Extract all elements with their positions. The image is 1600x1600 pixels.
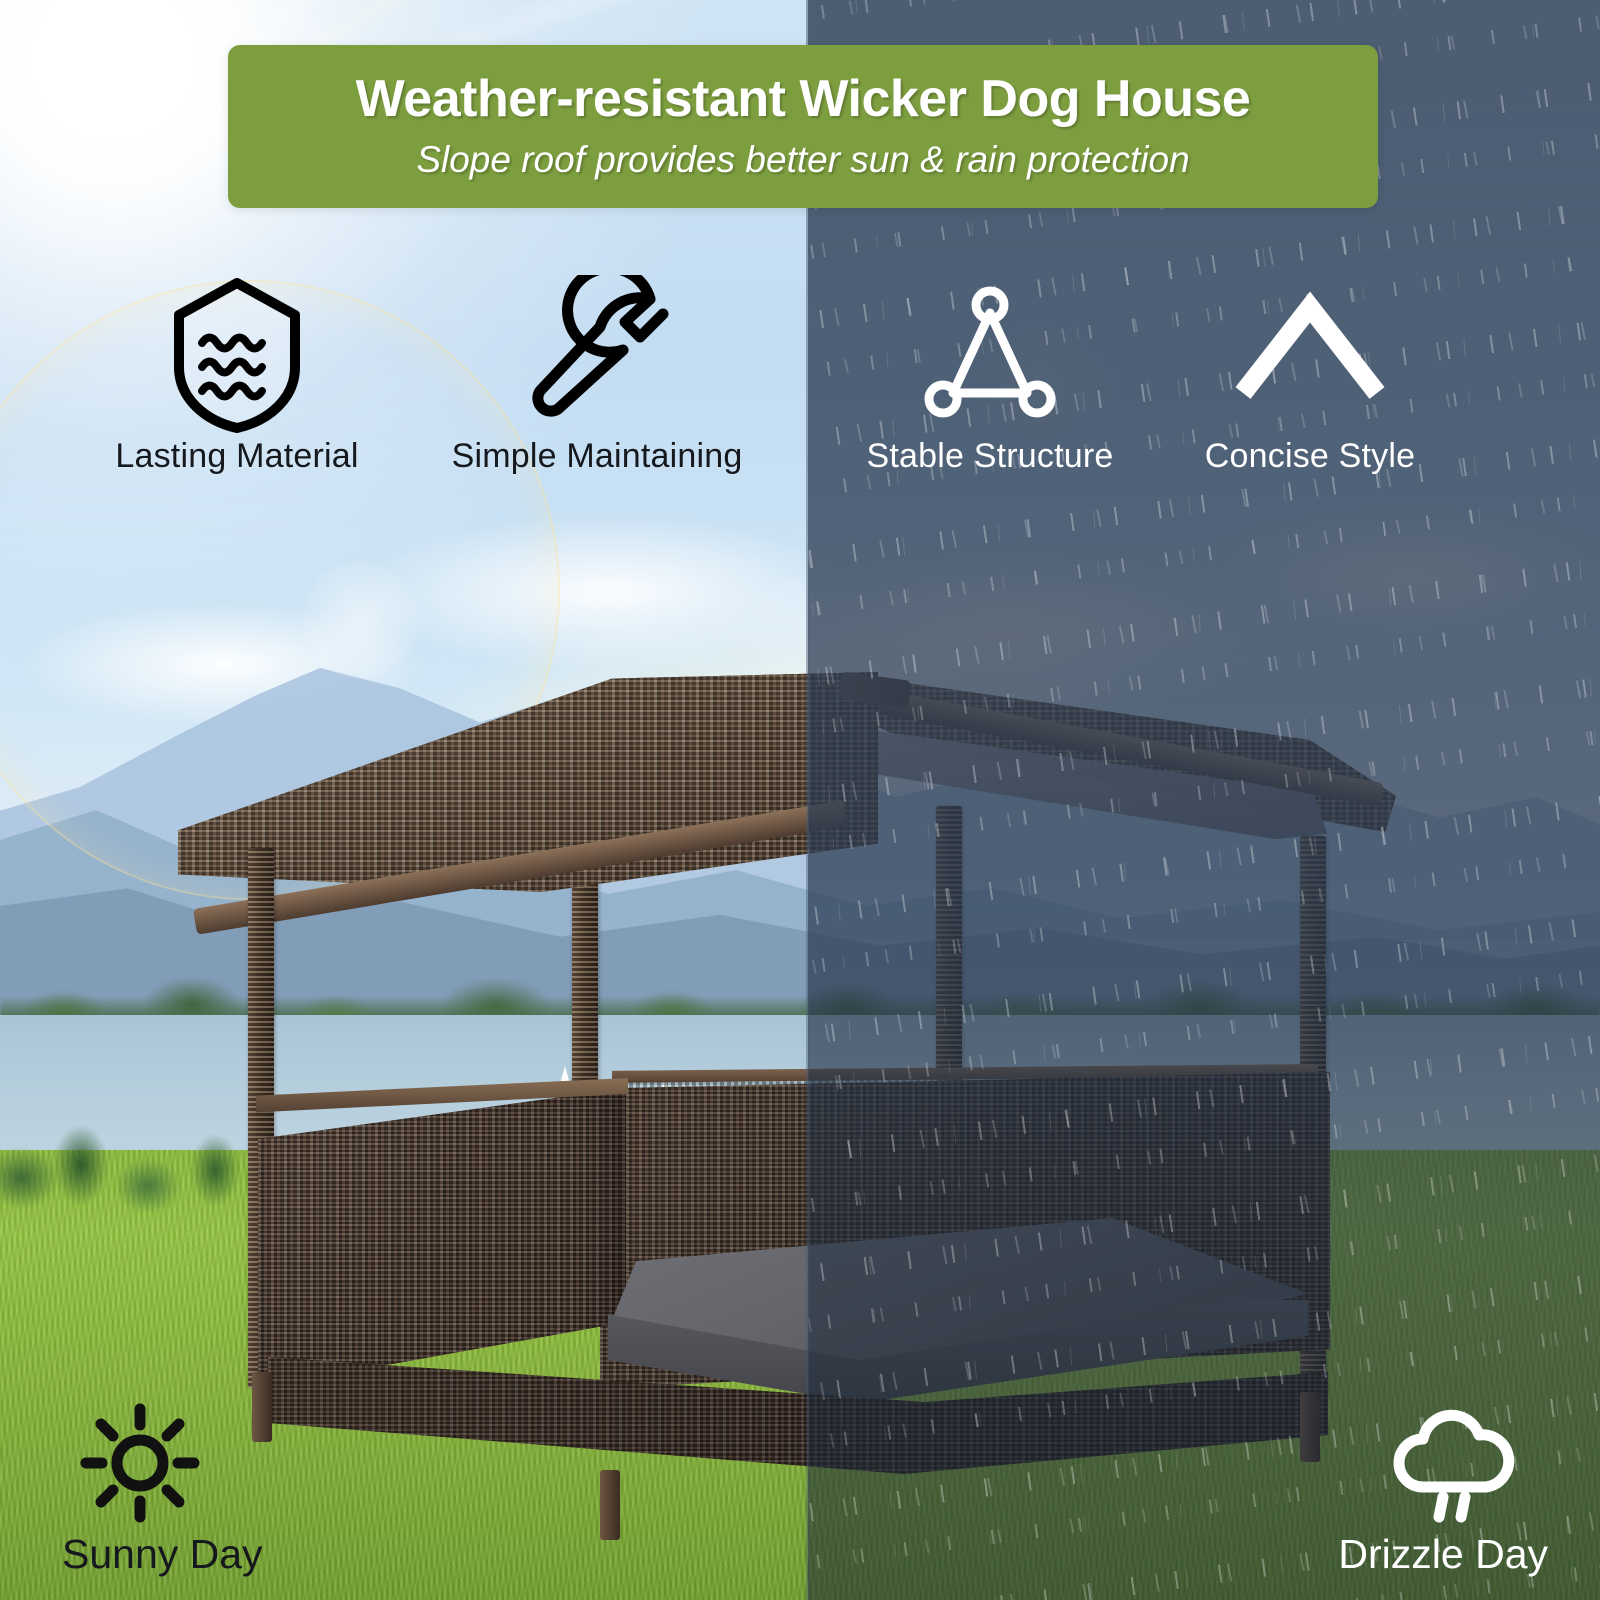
banner-subtitle: Slope roof provides better sun & rain pr… bbox=[416, 139, 1189, 181]
corner-label-drizzle: Drizzle Day bbox=[1338, 1393, 1548, 1578]
product-marketing-poster: Weather-resistant Wicker Dog House Slope… bbox=[0, 0, 1600, 1600]
chevron-roof-icon bbox=[1225, 272, 1395, 437]
shield-water-icon bbox=[162, 272, 312, 437]
leg-foot bbox=[600, 1470, 620, 1540]
feature-label: Stable Structure bbox=[867, 437, 1114, 476]
feature-label: Concise Style bbox=[1205, 437, 1415, 476]
feature-row: Lasting Material Simple Maintaining bbox=[0, 272, 1600, 492]
wrench-icon bbox=[522, 272, 672, 437]
banner-title: Weather-resistant Wicker Dog House bbox=[356, 72, 1251, 127]
triangle-nodes-icon bbox=[915, 272, 1065, 437]
corner-label-text: Drizzle Day bbox=[1338, 1531, 1548, 1578]
feature-label: Lasting Material bbox=[115, 437, 358, 476]
rain-streaks bbox=[808, 0, 1600, 1600]
feature-lasting-material: Lasting Material bbox=[107, 272, 367, 476]
cloud-rain-icon bbox=[1387, 1393, 1548, 1523]
rainy-half-overlay bbox=[808, 0, 1600, 1600]
corner-label-text: Sunny Day bbox=[62, 1531, 263, 1578]
feature-simple-maintaining: Simple Maintaining bbox=[467, 272, 727, 476]
feature-label: Simple Maintaining bbox=[452, 437, 743, 476]
basket-wall-left bbox=[258, 1088, 626, 1388]
corner-label-sunny: Sunny Day bbox=[62, 1393, 263, 1578]
sun-icon bbox=[62, 1393, 200, 1523]
weather-split-divider bbox=[806, 0, 809, 1600]
headline-banner: Weather-resistant Wicker Dog House Slope… bbox=[228, 45, 1378, 208]
feature-stable-structure: Stable Structure bbox=[860, 272, 1120, 476]
feature-concise-style: Concise Style bbox=[1180, 272, 1440, 476]
